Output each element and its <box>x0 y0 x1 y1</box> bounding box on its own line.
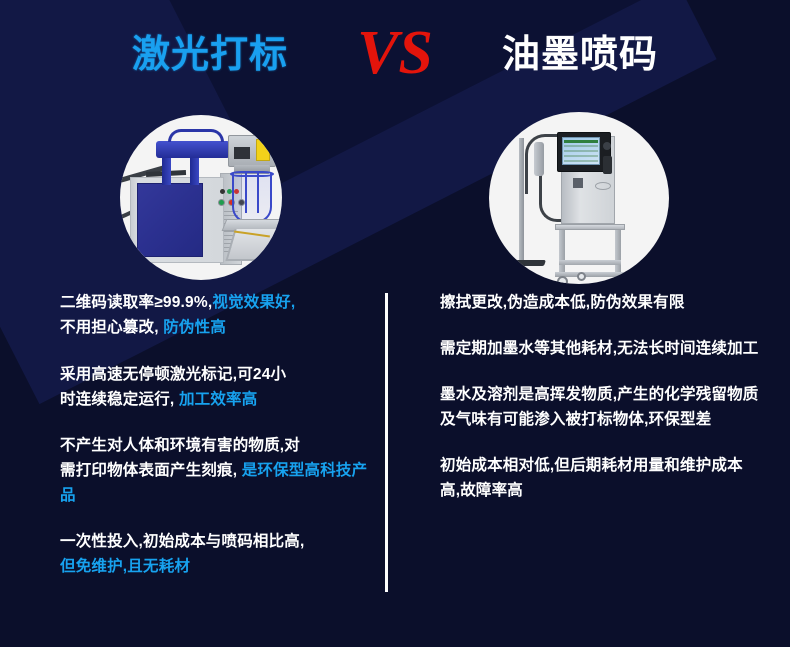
print-head-nozzle <box>534 142 544 176</box>
warning-label-icon <box>256 139 270 161</box>
brand-logo-icon <box>573 178 583 188</box>
right-feature-item-4: 初始成本相对低,但后期耗材用量和维护成本高,故障率高 <box>440 453 760 503</box>
carry-handle-icon <box>168 129 224 142</box>
feature-text: 二维码读取率≥99.9%, <box>60 294 212 311</box>
feature-highlight: 加工效率高 <box>179 391 258 408</box>
feature-highlight: 但免维护,且无耗材 <box>60 558 190 575</box>
side-vent-icon <box>603 156 612 174</box>
caster-wheel-icon-3 <box>577 272 586 281</box>
header-left-title: 激光打标 <box>85 36 335 74</box>
inkjet-printer-illustration <box>489 112 669 284</box>
laser-head-window <box>234 147 250 159</box>
inkjet-coding-printer-photo <box>489 112 669 284</box>
panel-oval-icon <box>595 182 611 190</box>
left-feature-item: 二维码读取率≥99.9%,视觉效果好, 不用担心篡改, 防伪性高 <box>60 290 380 340</box>
poster-header: 激光打标 VS 油墨喷码 <box>0 0 790 110</box>
laser-marking-machine-illustration <box>120 115 282 280</box>
cart-cross-bar <box>559 260 621 265</box>
header-vs-label: VS <box>335 22 455 88</box>
cart-leg-right <box>615 230 621 274</box>
caster-wheel-icon-2 <box>612 276 623 284</box>
rolling-cart-stand <box>555 224 625 284</box>
feature-text: 采用高速无停顿激光标记,可24小 <box>60 366 286 383</box>
screen-content <box>564 140 598 162</box>
right-feature-item-3: 墨水及溶剂是高挥发物质,产生的化学残留物质及气味有可能渗入被打标物体,环保型差 <box>440 382 760 432</box>
feature-text-2: 不用担心篡改, <box>60 319 159 336</box>
product-photo-row <box>0 110 790 285</box>
comparison-poster: 激光打标 VS 油墨喷码 <box>0 0 790 647</box>
feature-text: 一次性投入,初始成本与喷码相比高, <box>60 533 305 550</box>
left-feature-column: 二维码读取率≥99.9%,视觉效果好, 不用担心篡改, 防伪性高 采用高速无停顿… <box>60 290 380 600</box>
feature-text-2: 需打印物体表面产生刻痕, <box>60 462 237 479</box>
header-right-title: 油墨喷码 <box>455 36 705 74</box>
left-feature-item-4: 一次性投入,初始成本与喷码相比高, 但免维护,且无耗材 <box>60 529 380 579</box>
feature-highlight-2: 防伪性高 <box>163 319 226 336</box>
feature-highlight: 视觉效果好, <box>212 294 295 311</box>
feature-text-2: 时连续稳定运行, <box>60 391 174 408</box>
laser-marking-machine-photo <box>120 115 282 280</box>
left-feature-item-3: 不产生对人体和环境有害的物质,对 需打印物体表面产生刻痕, 是环保型高科技产品 <box>60 433 380 508</box>
print-head-pole <box>519 138 524 264</box>
pole-base-foot <box>496 260 546 266</box>
right-feature-item: 擦拭更改,伪造成本低,防伪效果有限 <box>440 290 760 315</box>
feature-text: 不产生对人体和环境有害的物质,对 <box>60 437 300 454</box>
gantry-arm <box>156 141 230 158</box>
panel-knob-icon <box>603 142 611 150</box>
cart-leg-left <box>559 230 565 274</box>
caster-wheel-icon <box>557 276 568 284</box>
right-feature-item-2: 需定期加墨水等其他耗材,无法长时间连续加工 <box>440 336 760 361</box>
right-feature-column: 擦拭更改,伪造成本低,防伪效果有限 需定期加墨水等其他耗材,无法长时间连续加工 … <box>440 290 760 524</box>
safety-cage <box>232 173 272 223</box>
feature-columns: 二维码读取率≥99.9%,视觉效果好, 不用担心篡改, 防伪性高 采用高速无停顿… <box>0 290 790 620</box>
cabinet-blue-panel <box>137 183 203 257</box>
left-feature-item-2: 采用高速无停顿激光标记,可24小 时连续稳定运行, 加工效率高 <box>60 362 380 412</box>
